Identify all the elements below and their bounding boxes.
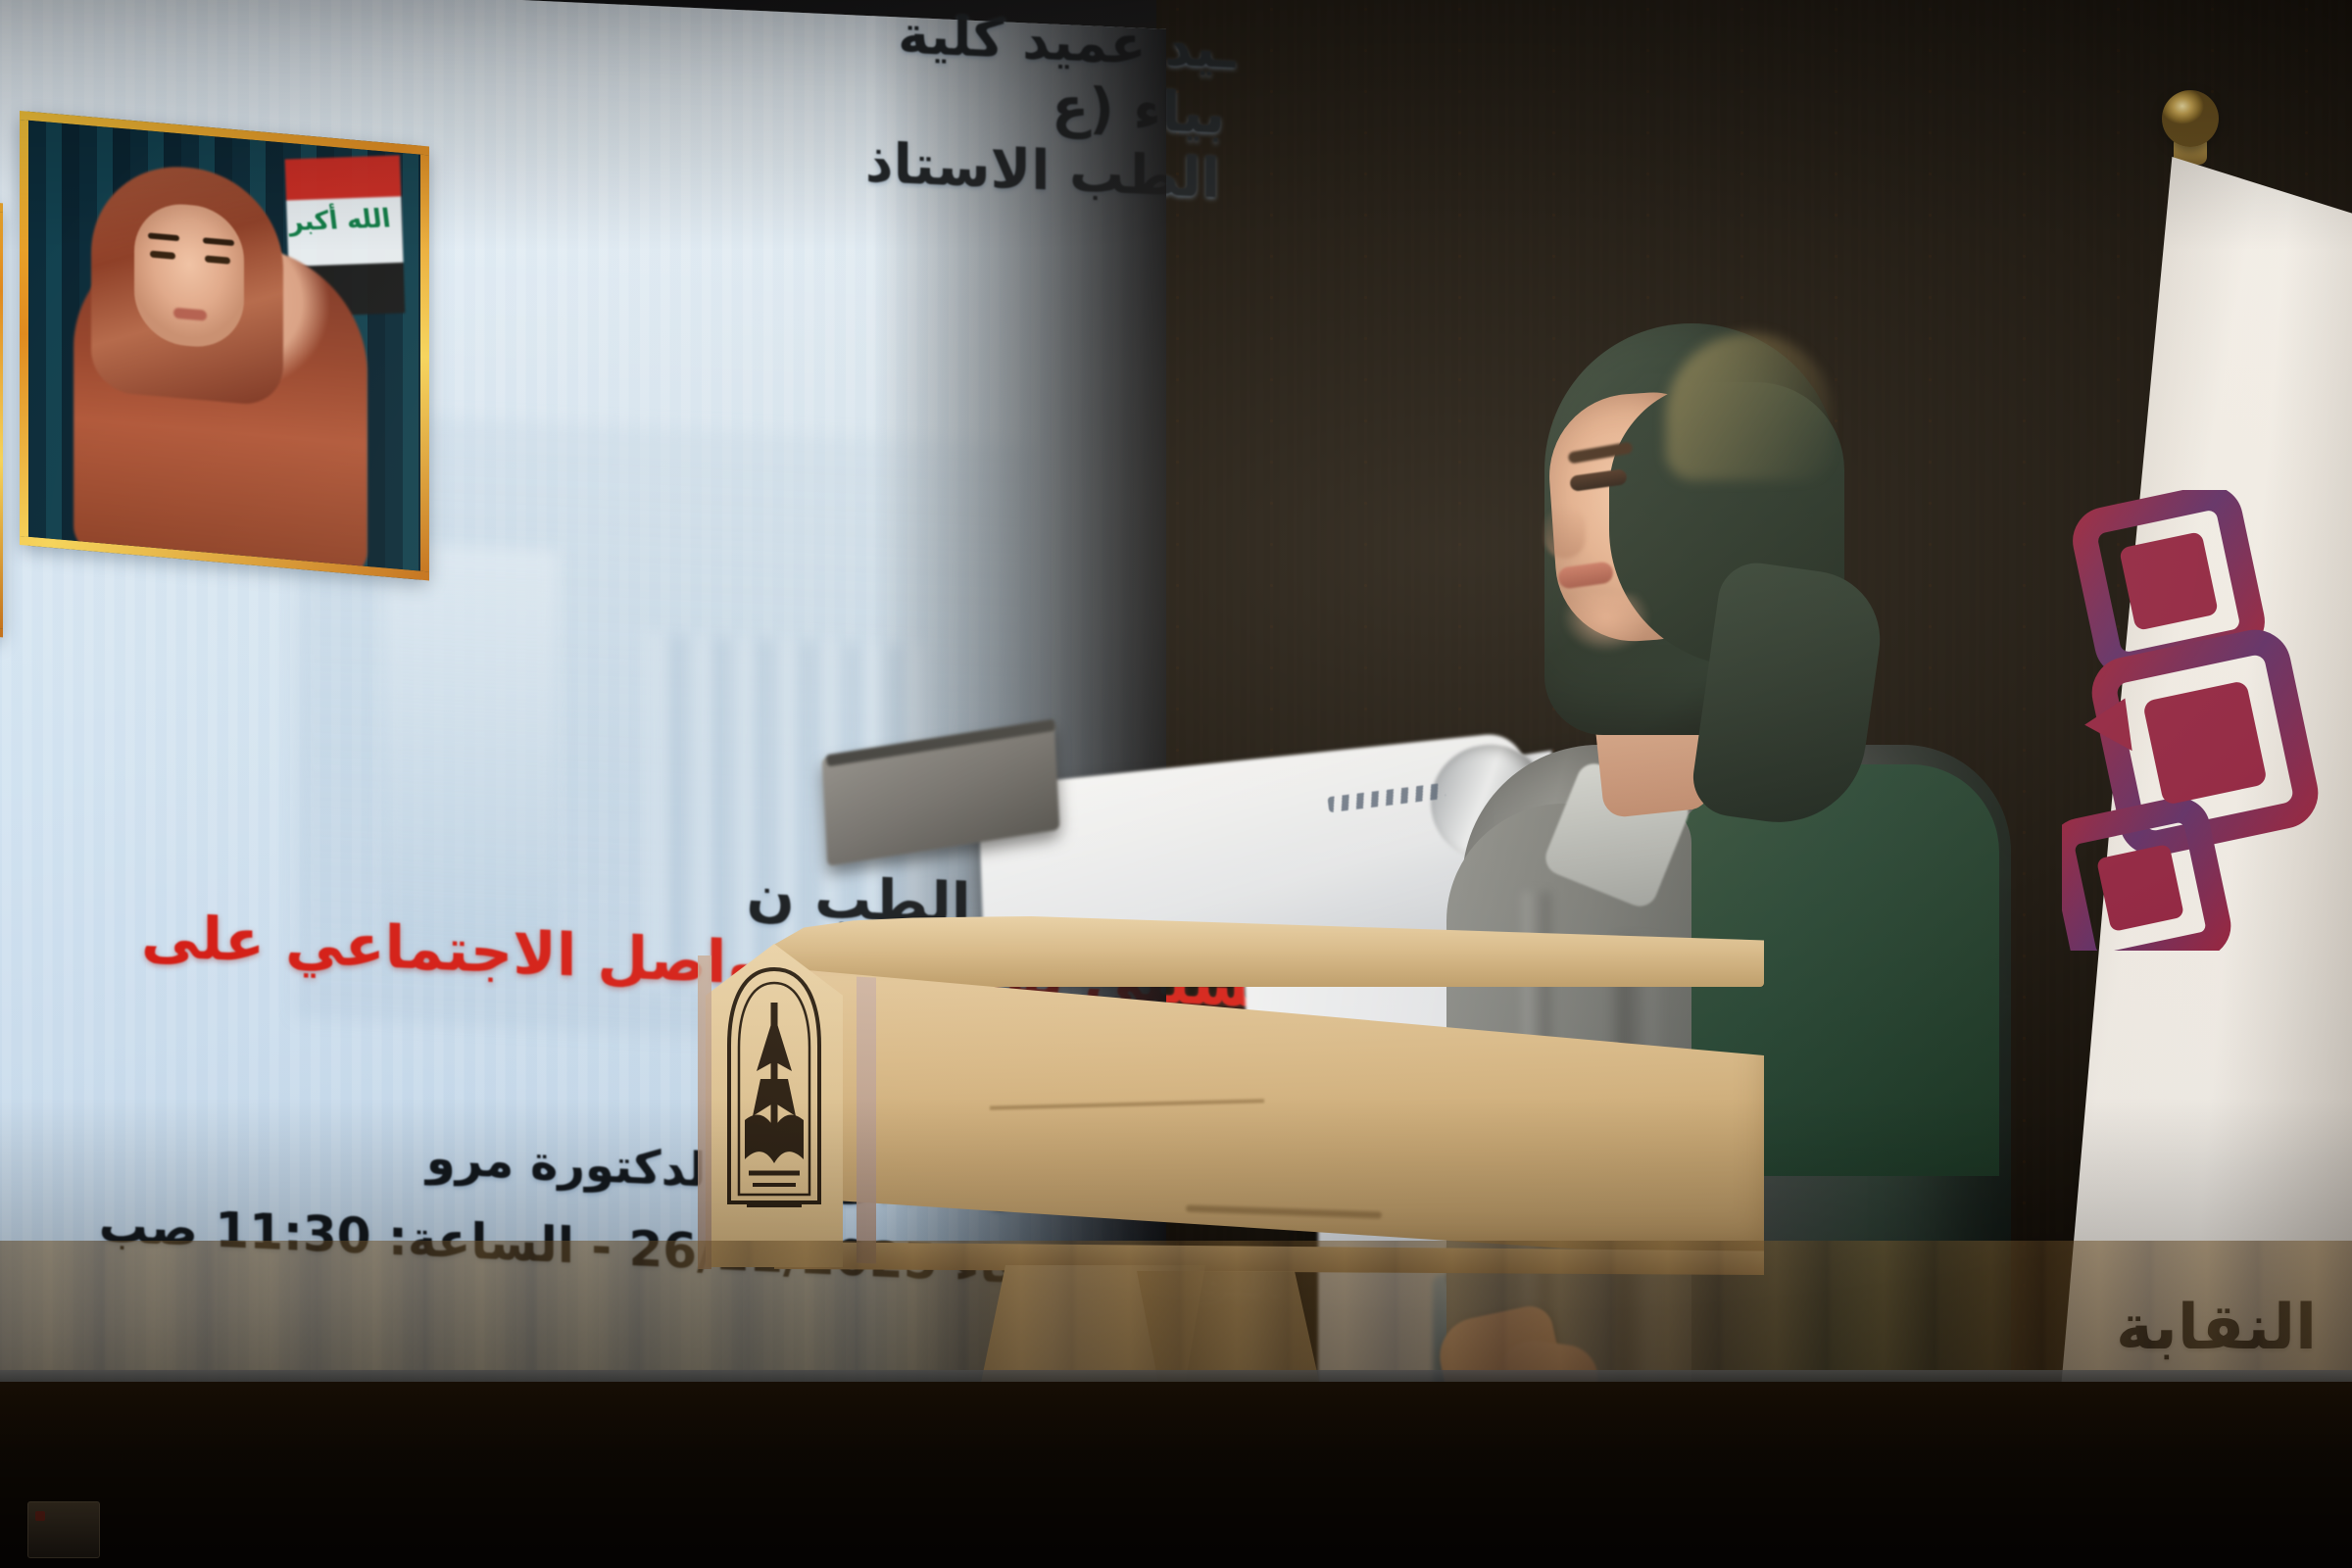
- podium-trim-left: [698, 955, 711, 1269]
- podium-trim-right: [857, 976, 876, 1263]
- syndicate-logo-icon: [2062, 490, 2352, 951]
- slide-background-tower: [382, 543, 559, 972]
- photo-scene: ـيد عميد كلية بياء (ع الطب الاستاذ الله …: [0, 0, 2352, 1568]
- slide-portrait-face: [134, 200, 244, 351]
- podium-front-panel: [774, 967, 1764, 1261]
- speaker-nose: [1544, 506, 1586, 559]
- speaker-chin: [1562, 594, 1650, 653]
- stage-foreground: [0, 1382, 2352, 1568]
- slide-photo-frame-main: الله أكبر: [20, 111, 429, 581]
- slide-photo-frame-secondary: [0, 189, 3, 637]
- wall-base-panels: [0, 1241, 2352, 1370]
- speaker-head: [1519, 323, 1842, 745]
- podium-top-ledge: [774, 916, 1764, 987]
- iraqi-flag-text: الله أكبر: [287, 205, 393, 238]
- wall-switch-plate: [27, 1501, 100, 1558]
- speaker-hijab-highlight: [1666, 333, 1833, 480]
- flag-pole-ball-finial: [2162, 90, 2219, 147]
- university-emblem-icon: [723, 963, 825, 1228]
